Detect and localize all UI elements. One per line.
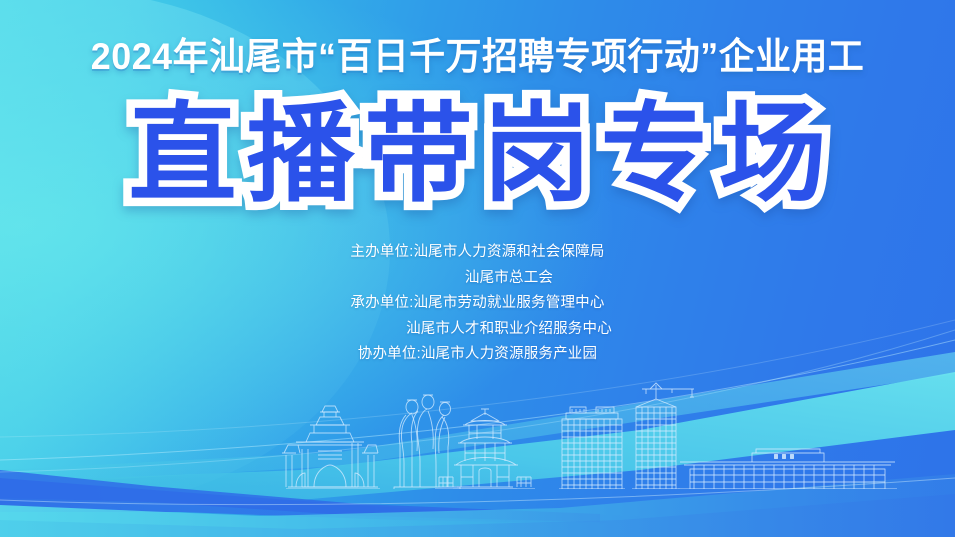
recruitment-live-poster: 2024年汕尾市“百日千万招聘专项行动”企业用工 直播带岗专场 直播带岗专场 主… (0, 0, 955, 537)
organizer-value: 汕尾市劳动就业服务管理中心 (413, 295, 604, 311)
organizer-value: 汕尾市总工会 (465, 270, 553, 286)
poster-header-title: 2024年汕尾市“百日千万招聘专项行动”企业用工 (14, 36, 940, 79)
main-title-fill: 直播带岗专场 (118, 98, 836, 210)
organizer-value: 汕尾市人力资源和社会保障局 (413, 244, 604, 260)
organizer-line: 主办单位:汕尾市总工会 (0, 266, 955, 292)
organizer-label: 承办单位: (350, 291, 413, 317)
organizer-label: 协办单位: (358, 342, 421, 368)
city-skyline-illustration (0, 379, 955, 489)
organizer-label: 主办单位: (350, 240, 413, 266)
organizer-value: 汕尾市人力资源服务产业园 (421, 346, 597, 362)
organizer-line: 承办单位:汕尾市人才和职业介绍服务中心 (0, 317, 955, 343)
organizer-line: 协办单位:汕尾市人力资源服务产业园 (0, 342, 955, 368)
residential-highrise-crane-icon (630, 383, 694, 489)
pagoda-tower-icon (435, 409, 535, 489)
station-building-icon (676, 449, 899, 489)
station-sign-text (774, 454, 794, 459)
organizer-line: 承办单位:汕尾市劳动就业服务管理中心 (0, 291, 955, 317)
office-highrise-icon (557, 407, 627, 489)
organizer-line: 主办单位:汕尾市人力资源和社会保障局 (0, 240, 955, 266)
memorial-archway-icon (282, 406, 380, 489)
poster-main-title: 直播带岗专场 直播带岗专场 (118, 98, 836, 210)
organizer-block: 主办单位:汕尾市人力资源和社会保障局 主办单位:汕尾市总工会 承办单位:汕尾市劳… (0, 240, 955, 368)
organizer-value: 汕尾市人才和职业介绍服务中心 (406, 321, 612, 337)
poster-main-title-wrap: 直播带岗专场 直播带岗专场 (0, 98, 955, 216)
statue-group-icon (384, 395, 470, 489)
